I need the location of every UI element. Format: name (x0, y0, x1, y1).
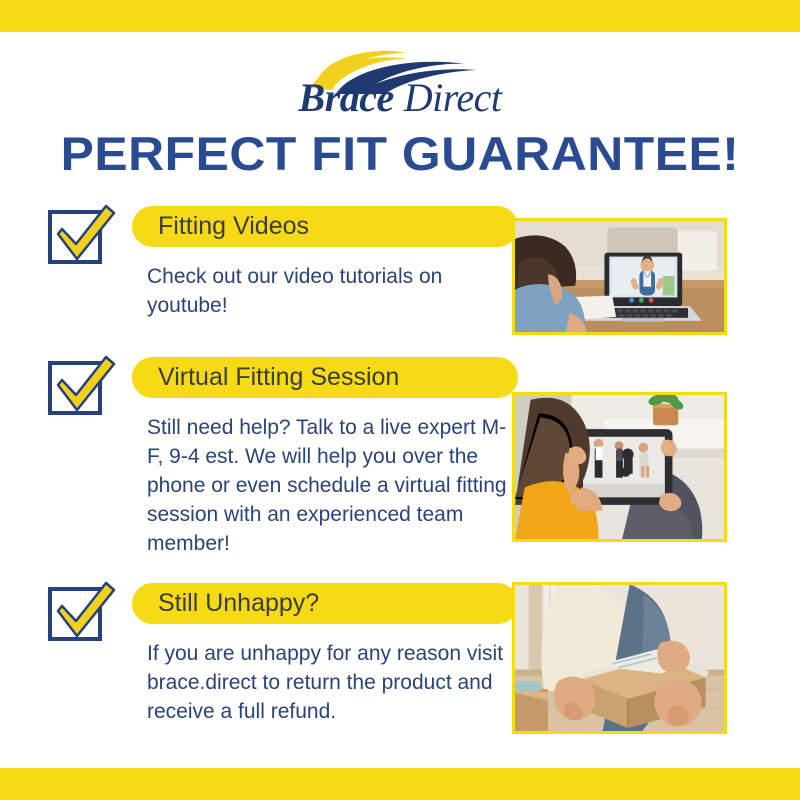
photo-virtual-fitting-session (512, 392, 727, 542)
logo-word-brace: Brace (299, 75, 394, 120)
logo-word-direct: Direct (404, 75, 502, 120)
section-body-text: If you are unhappy for any reason visit … (147, 639, 507, 726)
pill-virtual-fitting-session[interactable]: Virtual Fitting Session (132, 357, 518, 398)
top-yellow-band (0, 0, 800, 32)
page-title: PERFECT FIT GUARANTEE! (0, 126, 800, 181)
pill-fitting-videos[interactable]: Fitting Videos (132, 206, 518, 247)
section-body-text: Check out our video tutorials on youtube… (147, 262, 507, 320)
photo-fitting-videos (512, 218, 727, 335)
section-body-text: Still need help? Talk to a live expert M… (147, 413, 507, 558)
logo-wordmark: BraceDirect (0, 78, 800, 118)
checkbox-checked-icon (46, 577, 118, 649)
pill-label: Still Unhappy? (158, 589, 319, 618)
pill-label: Virtual Fitting Session (158, 363, 399, 392)
pill-label: Fitting Videos (158, 212, 309, 241)
brace-direct-logo: BraceDirect (0, 48, 800, 120)
checkbox-checked-icon (46, 200, 118, 272)
laptop-video-call-image (515, 221, 724, 332)
checkbox-checked-icon (46, 351, 118, 423)
pill-still-unhappy[interactable]: Still Unhappy? (132, 583, 518, 624)
bottom-yellow-band (0, 768, 800, 800)
return-package-handoff-image (515, 585, 724, 731)
photo-still-unhappy (512, 582, 727, 734)
tablet-video-call-image (515, 395, 724, 539)
perfect-fit-guarantee-graphic: BraceDirect PERFECT FIT GUARANTEE! Fitti… (0, 0, 800, 800)
